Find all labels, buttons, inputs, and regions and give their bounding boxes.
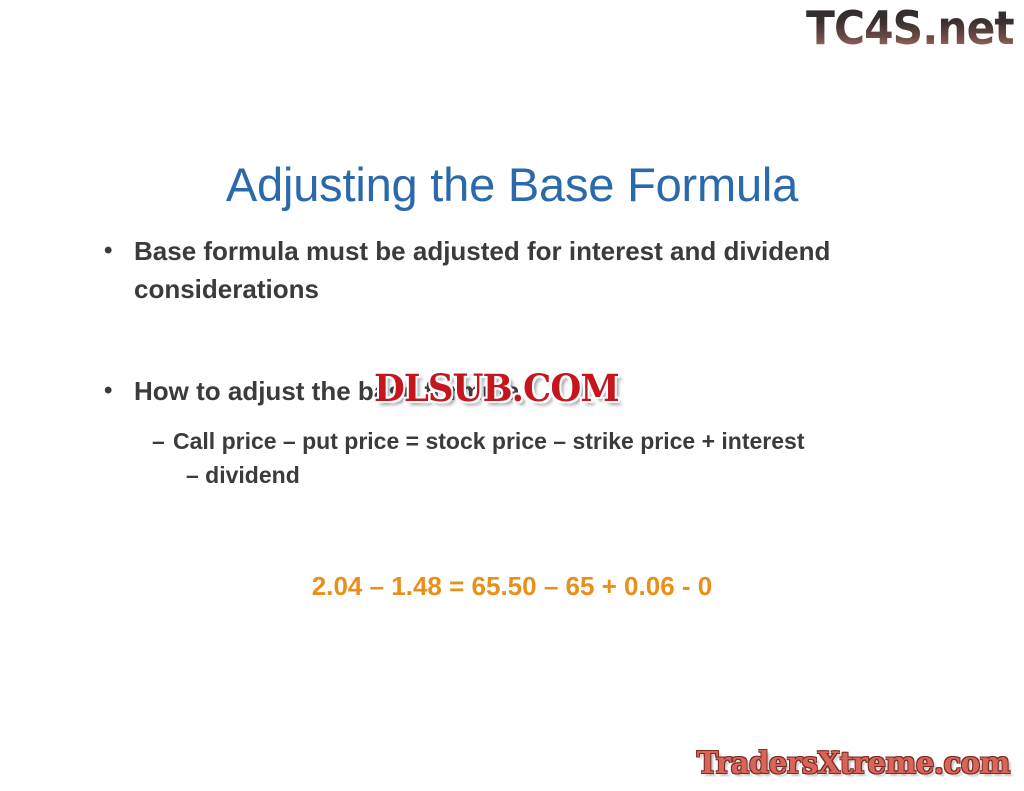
- bullet-spacer: [96, 308, 936, 372]
- sub-bullet-text-group: Call price – put price = stock price – s…: [173, 424, 933, 492]
- bullet-item-1-text: Base formula must be adjusted for intere…: [134, 232, 854, 308]
- sub-bullet-line-2: – dividend: [173, 458, 933, 492]
- sub-bullet-item: – Call price – put price = stock price –…: [152, 424, 936, 492]
- slide-canvas: TC4S.net Adjusting the Base Formula • Ba…: [0, 0, 1024, 791]
- bullet-item-1: • Base formula must be adjusted for inte…: [96, 232, 936, 308]
- tc4s-brand-logo: TC4S.net: [806, 2, 1014, 54]
- dlsub-watermark: DLSUB.COM: [374, 366, 619, 410]
- sub-bullet-marker-icon: –: [152, 424, 173, 458]
- page-title: Adjusting the Base Formula: [0, 157, 1024, 213]
- bullet-marker-icon: •: [96, 232, 134, 270]
- bullet-marker-icon: •: [96, 372, 134, 410]
- sub-bullet-line-1: Call price – put price = stock price – s…: [173, 428, 805, 454]
- slide-body: • Base formula must be adjusted for inte…: [96, 232, 936, 492]
- formula-equation: 2.04 – 1.48 = 65.50 – 65 + 0.06 - 0: [0, 569, 1024, 603]
- tradersxtreme-footer-logo: TradersXtreme.com: [697, 745, 1010, 783]
